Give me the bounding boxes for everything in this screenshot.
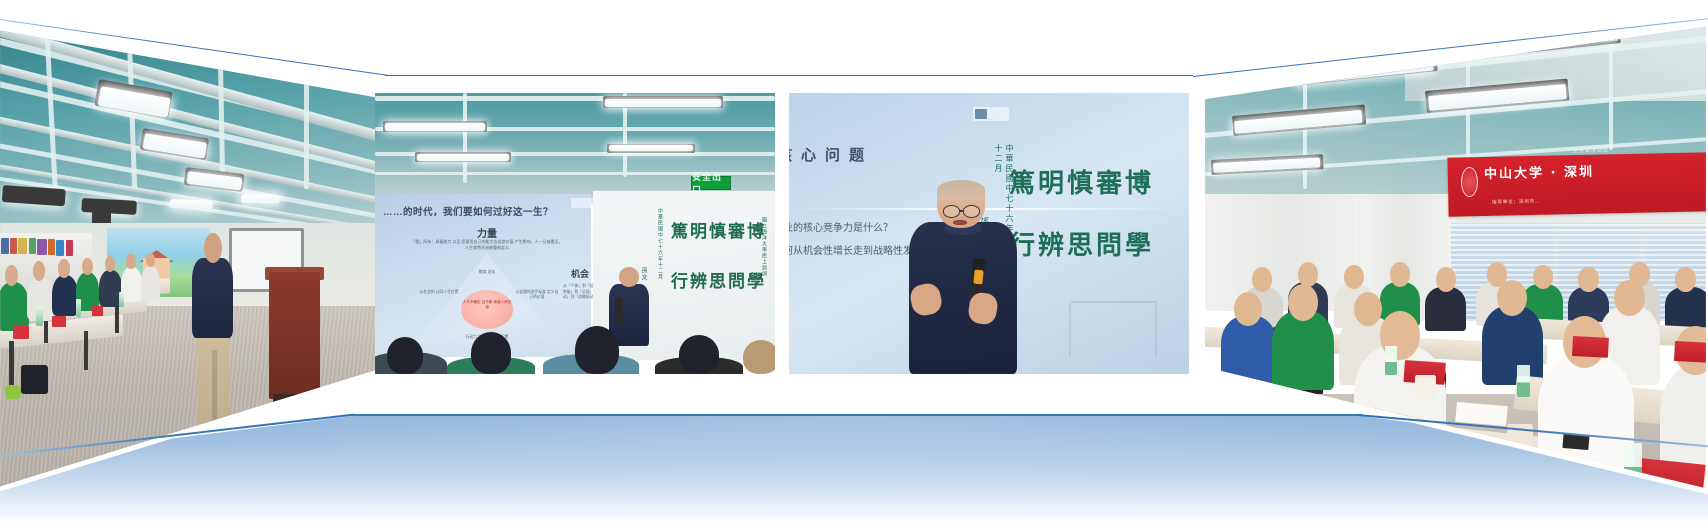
slide-3-question-1: 企业的核心竞争力是什么？ xyxy=(789,219,893,234)
scene-presentation-slide: 安全出口 ……的时代，我们要如何过好这一生？ 力量 「我」所有：具备能力 以及 … xyxy=(375,93,775,374)
slide-2-photo: 安全出口 ……的时代，我们要如何过好这一生？ 力量 「我」所有：具备能力 以及 … xyxy=(375,93,775,374)
campus-gate-watermark xyxy=(1069,301,1157,357)
carousel-slide-2[interactable]: 安全出口 ……的时代，我们要如何过好这一生？ 力量 「我」所有：具备能力 以及 … xyxy=(375,93,775,374)
nameplate-6 xyxy=(1674,341,1708,362)
calligraphy-3-line-2: 行辨思問學 xyxy=(1009,225,1154,262)
banner-top-text: 企业家培训班 xyxy=(1573,147,1609,155)
slide-title-text: ……的时代，我们要如何过好这一生？ xyxy=(383,204,587,218)
slide-3-photo: 核心问题 企业的核心竞争力是什么？ 如何从机会性增长走到战略性发展？ 篤明慎審博… xyxy=(789,93,1189,374)
calligraphy-line-1: 篤明慎審博 xyxy=(671,217,766,242)
triangle-label-right: 以自我的进步标准 定义自己的价值 xyxy=(515,290,559,301)
carousel-stage: 安全出口 ……的时代，我们要如何过好这一生？ 力量 「我」所有：具备能力 以及 … xyxy=(0,0,1708,523)
slide-heading-right: 机会 xyxy=(571,267,589,280)
calligraphy-3-line-1: 篤明慎審博 xyxy=(1009,163,1154,200)
scene-speaker-closeup: 核心问题 企业的核心竞争力是什么？ 如何从机会性增长走到战略性发展？ 篤明慎審博… xyxy=(789,93,1189,374)
triangle-core-text: 人与不确定 且不断 续增人间交错 xyxy=(461,300,513,311)
nameplate-5 xyxy=(1572,336,1609,357)
slide-corner-logo-mark xyxy=(975,109,987,119)
slide-3-title: 核心问题 xyxy=(789,144,873,165)
calligraphy-side-text: 中華民國中七十六年十二月 xyxy=(657,208,664,281)
triangle-label-top: 教育 进化 xyxy=(467,270,507,275)
calligraphy-side-text-2: 國立海洋大學民上訓詞 xyxy=(761,217,768,290)
exit-sign: 安全出口 xyxy=(691,176,731,190)
calligraphy-line-2: 行辨思問學 xyxy=(671,267,766,292)
guide-line-top-center xyxy=(385,75,1193,76)
banner-main-text: 中山大学 · 深圳 xyxy=(1484,161,1594,182)
slide-subtext-left: 「我」所有：具备能力 以及 愿意用自己的能力去创造价值 产生影响，人一旦被看见，… xyxy=(411,239,563,251)
banner-bottom-text: 指导单位：深圳市… xyxy=(1492,198,1541,205)
slide-heading-left: 力量 xyxy=(455,225,519,240)
carousel-slide-3[interactable]: 核心问题 企业的核心竞争力是什么？ 如何从机会性增长走到战略性发展？ 篤明慎審博… xyxy=(789,93,1189,374)
triangle-label-left: 从社会的 认同人生位置 xyxy=(419,290,459,295)
guide-line-bottom-center xyxy=(352,414,1362,416)
